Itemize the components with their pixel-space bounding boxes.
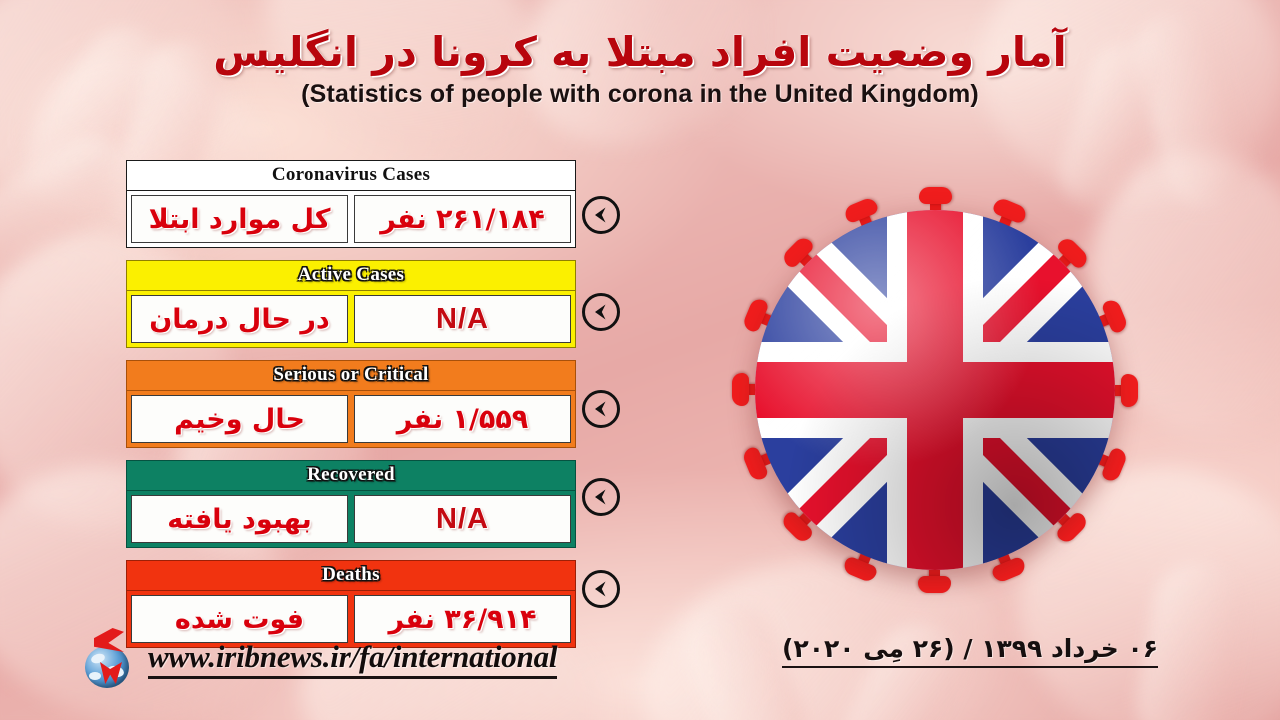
- statistics-table: Coronavirus Cases ۲۶۱/۱۸۴ نفر کل موارد ا…: [126, 160, 576, 660]
- stat-row-active-cases: Active Cases N/A در حال درمان: [126, 260, 576, 348]
- irib-globe-logo-icon: [82, 628, 138, 690]
- label-cell: در حال درمان: [131, 295, 348, 343]
- value-cell: ۱/۵۵۹ نفر: [354, 395, 571, 443]
- sphere-gloss: [755, 210, 1115, 570]
- arrow-left-icon: [582, 478, 620, 516]
- label-cell: بهبود یافته: [131, 495, 348, 543]
- value-cell: N/A: [354, 295, 571, 343]
- band-coronavirus-cases: Coronavirus Cases: [126, 160, 576, 191]
- infographic-canvas: آمار وضعیت افراد مبتلا به کرونا در انگلی…: [0, 0, 1280, 720]
- site-url-text[interactable]: www.iribnews.ir/fa/international: [148, 639, 557, 679]
- arrow-left-icon: [582, 196, 620, 234]
- value-text: ۱/۵۵۹ نفر: [397, 404, 529, 435]
- title-english: (Statistics of people with corona in the…: [0, 80, 1280, 109]
- stat-row-serious-or-critical: Serious or Critical ۱/۵۵۹ نفر حال وخیم: [126, 360, 576, 448]
- cells-coronavirus-cases: ۲۶۱/۱۸۴ نفر کل موارد ابتلا: [126, 191, 576, 248]
- label-text-persian: کل موارد ابتلا: [149, 204, 331, 235]
- value-cell: ۲۶۱/۱۸۴ نفر: [354, 195, 571, 243]
- value-cell: N/A: [354, 495, 571, 543]
- cells-recovered: N/A بهبود یافته: [126, 491, 576, 548]
- cells-active-cases: N/A در حال درمان: [126, 291, 576, 348]
- page-title: آمار وضعیت افراد مبتلا به کرونا در انگلی…: [0, 28, 1280, 109]
- band-label: Active Cases: [298, 264, 405, 285]
- value-text: N/A: [436, 503, 489, 536]
- label-text-persian: در حال درمان: [149, 304, 330, 335]
- band-recovered: Recovered: [126, 460, 576, 491]
- cells-serious-or-critical: ۱/۵۵۹ نفر حال وخیم: [126, 391, 576, 448]
- title-persian: آمار وضعیت افراد مبتلا به کرونا در انگلی…: [0, 28, 1280, 76]
- footer-date: ۰۶ خرداد ۱۳۹۹ / (۲۶ مِی ۲۰۲۰): [782, 634, 1158, 668]
- label-cell: کل موارد ابتلا: [131, 195, 348, 243]
- value-text: ۲۶۱/۱۸۴ نفر: [380, 204, 545, 235]
- label-text-persian: حال وخیم: [174, 404, 305, 435]
- stat-row-recovered: Recovered N/A بهبود یافته: [126, 460, 576, 548]
- stat-row-coronavirus-cases: Coronavirus Cases ۲۶۱/۱۸۴ نفر کل موارد ا…: [126, 160, 576, 248]
- arrow-left-icon: [582, 390, 620, 428]
- band-label: Deaths: [322, 564, 380, 585]
- arrow-left-icon: [582, 570, 620, 608]
- arrow-left-icon: [582, 293, 620, 331]
- value-text: N/A: [436, 303, 489, 336]
- uk-flag-sphere: [755, 210, 1115, 570]
- band-deaths: Deaths: [126, 560, 576, 591]
- band-serious-or-critical: Serious or Critical: [126, 360, 576, 391]
- footer-website[interactable]: www.iribnews.ir/fa/international: [82, 628, 557, 690]
- band-label: Recovered: [307, 464, 395, 485]
- uk-flag-coronavirus-icon: [700, 155, 1170, 625]
- label-text-persian: بهبود یافته: [167, 504, 312, 535]
- label-cell: حال وخیم: [131, 395, 348, 443]
- band-active-cases: Active Cases: [126, 260, 576, 291]
- band-label: Serious or Critical: [273, 364, 428, 385]
- date-text: ۰۶ خرداد ۱۳۹۹ / (۲۶ مِی ۲۰۲۰): [782, 634, 1158, 668]
- band-label: Coronavirus Cases: [272, 164, 430, 185]
